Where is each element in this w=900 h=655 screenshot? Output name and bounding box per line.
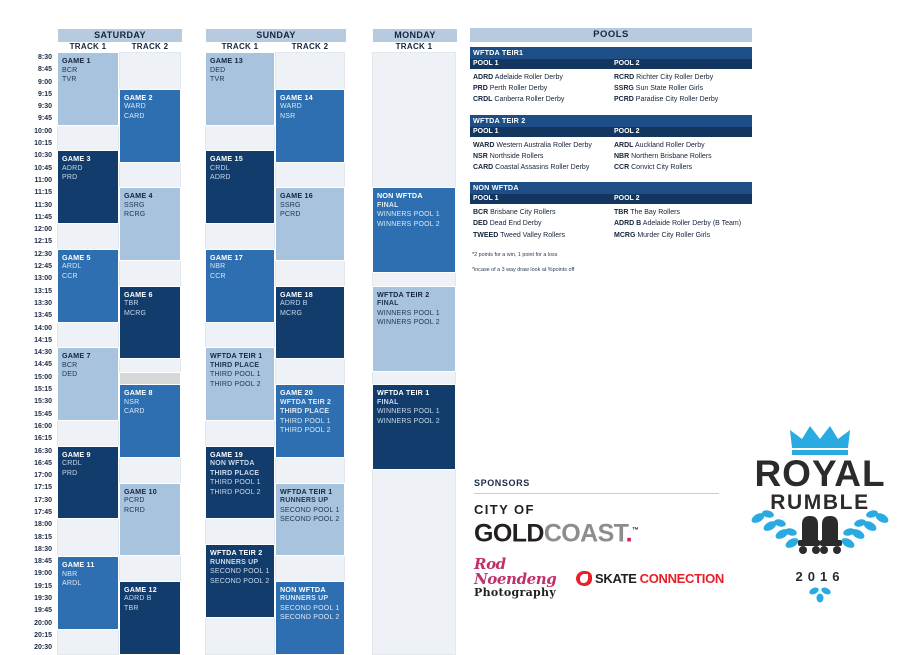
pools-footnotes: *2 points for a win, 1 point for a loss*…: [470, 251, 752, 275]
game-title: NON WFTDA: [377, 191, 451, 201]
game-line: CARD: [124, 112, 176, 122]
game-title: WFTDA TEIR 1: [210, 351, 270, 361]
time-label: 15:00: [25, 372, 55, 384]
game-block[interactable]: GAME 15CRDLADRD: [205, 150, 275, 224]
team-code: PCRD: [614, 96, 634, 103]
time-label: 10:00: [25, 126, 55, 138]
game-line: TBR: [124, 604, 176, 614]
team-name: Perth Roller Derby: [488, 85, 548, 92]
gold-coast-city-of: CITY OF: [474, 503, 724, 517]
game-block[interactable]: GAME 6TBRMCRG: [119, 286, 181, 360]
game-line: THIRD POOL 2: [210, 380, 270, 390]
pool-team-row: PRD Perth Roller Derby: [470, 83, 611, 94]
team-name: Brisbane City Rollers: [488, 209, 555, 216]
game-line: BCR: [62, 66, 114, 76]
game-title: GAME 5: [62, 253, 114, 263]
game-line: NON WFTDA: [210, 459, 270, 469]
team-name: Adelaide Roller Derby: [493, 74, 563, 81]
team-name: Richter City Roller Derby: [634, 74, 713, 81]
skate-connection-skate: SKATE: [595, 571, 637, 586]
game-line: PCRD: [280, 210, 340, 220]
game-title: GAME 12: [124, 585, 176, 595]
roller-skates-icon: [798, 516, 842, 554]
game-line: NBR: [62, 570, 114, 580]
team-code: NBR: [614, 153, 629, 160]
game-line: WINNERS POOL 1: [377, 407, 451, 417]
game-title: GAME 18: [280, 290, 340, 300]
time-label: 12:30: [25, 249, 55, 261]
team-name: Dead End Derby: [488, 220, 542, 227]
wreath-icon: [746, 510, 894, 566]
time-label: 20:00: [25, 618, 55, 630]
game-block[interactable]: GAME 3ADRDPRD: [57, 150, 119, 224]
team-name: Adelaide Roller Derby (B Team): [641, 220, 741, 227]
team-code: TWEED: [473, 232, 498, 239]
royal-rumble-logo: ROYAL RUMBLE: [746, 424, 894, 620]
game-line: ADRD B: [280, 299, 340, 309]
game-title: WFTDA TEIR 2: [210, 548, 270, 558]
game-line: THIRD PLACE: [210, 469, 270, 479]
game-block[interactable]: GAME 11NBRARDL: [57, 556, 119, 630]
time-label: 14:45: [25, 359, 55, 371]
game-block[interactable]: GAME 1BCRTVR: [57, 52, 119, 126]
game-block[interactable]: WFTDA TEIR 1RUNNERS UPSECOND POOL 1SECON…: [275, 483, 345, 557]
skate-connection-icon: [576, 571, 592, 586]
time-label: 15:30: [25, 396, 55, 408]
pool-body: ADRD Adelaide Roller DerbyPRD Perth Roll…: [470, 69, 752, 110]
time-label: 9:30: [25, 101, 55, 113]
team-name: Western Australia Roller Derby: [494, 142, 592, 149]
time-label: 11:30: [25, 200, 55, 212]
game-line: WINNERS POOL 2: [377, 417, 451, 427]
game-line: PRD: [62, 469, 114, 479]
pool-team-row: CRDL Canberra Roller Derby: [470, 94, 611, 105]
game-line: THIRD POOL 1: [210, 478, 270, 488]
game-title: GAME 3: [62, 154, 114, 164]
time-label: 9:00: [25, 77, 55, 89]
pool-team-row: SSRG Sun State Roller Girls: [611, 83, 752, 94]
pool-column: ADRD Adelaide Roller DerbyPRD Perth Roll…: [470, 72, 611, 106]
logo-wreath-skates: [746, 514, 894, 570]
game-line: CCR: [62, 272, 114, 282]
game-title: GAME 4: [124, 191, 176, 201]
sponsors-divider: [474, 493, 719, 494]
game-line: WARD: [124, 102, 176, 112]
team-code: WARD: [473, 142, 494, 149]
team-name: Auckland Roller Derby: [633, 142, 704, 149]
game-title: GAME 9: [62, 450, 114, 460]
game-line: ARDL: [62, 579, 114, 589]
team-code: CARD: [473, 164, 493, 171]
time-label: 18:30: [25, 544, 55, 556]
time-label: 19:30: [25, 593, 55, 605]
time-label: 17:15: [25, 482, 55, 494]
schedule-poster: 8:308:459:009:159:309:4510:0010:1510:301…: [0, 0, 900, 640]
time-label: 19:45: [25, 605, 55, 617]
leaf-flourish-icon: [807, 587, 833, 603]
game-title: NON WFTDA: [280, 585, 340, 595]
pool-header-row: POOL 1POOL 2: [470, 194, 752, 204]
game-block[interactable]: GAME 18ADRD BMCRG: [275, 286, 345, 360]
footnote: *incase of a 3 way draw look at %points …: [470, 266, 752, 275]
game-block[interactable]: GAME 16SSRGPCRD: [275, 187, 345, 261]
skate-connection-connection: CONNECTION: [640, 571, 724, 586]
game-line: SECOND POOL 1: [280, 604, 340, 614]
game-line: NBR: [210, 262, 270, 272]
pool-column: RCRD Richter City Roller DerbySSRG Sun S…: [611, 72, 752, 106]
game-line: THIRD POOL 2: [210, 488, 270, 498]
game-title: GAME 8: [124, 388, 176, 398]
team-code: CCR: [614, 164, 629, 171]
gold-coast-gold: GOLD: [474, 519, 544, 547]
time-column: 8:308:459:009:159:309:4510:0010:1510:301…: [25, 52, 55, 655]
game-line: THIRD POOL 1: [210, 370, 270, 380]
game-block[interactable]: WFTDA TEIR 2FINALWINNERS POOL 1WINNERS P…: [372, 286, 456, 372]
time-label: 10:45: [25, 163, 55, 175]
time-label: 14:00: [25, 323, 55, 335]
game-line: MCRG: [124, 309, 176, 319]
game-block[interactable]: NON WFTDAFINALWINNERS POOL 1WINNERS POOL…: [372, 187, 456, 273]
game-block[interactable]: WFTDA TEIR 1FINALWINNERS POOL 1WINNERS P…: [372, 384, 456, 470]
game-line: ARDL: [62, 262, 114, 272]
game-block[interactable]: GAME 8NSRCARD: [119, 384, 181, 458]
game-line: ADRD: [210, 173, 270, 183]
game-title: WFTDA TEIR 2: [377, 290, 451, 300]
time-label: 12:00: [25, 224, 55, 236]
game-block[interactable]: NON WFTDARUNNERS UPSECOND POOL 1SECOND P…: [275, 581, 345, 655]
game-line: FINAL: [377, 299, 451, 309]
game-line: WINNERS POOL 1: [377, 210, 451, 220]
team-name: Murder City Roller Girls: [635, 232, 710, 239]
team-code: TBR: [614, 209, 628, 216]
time-label: 16:15: [25, 433, 55, 445]
game-line: MCRG: [280, 309, 340, 319]
pool-header-row: POOL 1POOL 2: [470, 59, 752, 69]
pools-title: POOLS: [470, 28, 752, 42]
time-label: 18:15: [25, 532, 55, 544]
time-label: 16:45: [25, 458, 55, 470]
game-block[interactable]: GAME 20WFTDA TEIR 2THIRD PLACETHIRD POOL…: [275, 384, 345, 458]
rod-photography-label: Photography: [474, 587, 568, 599]
pool-team-row: NSR Northside Rollers: [470, 151, 611, 162]
gold-coast-trademark: ™: [632, 527, 638, 534]
pool-team-row: CARD Coastal Assasins Roller Derby: [470, 162, 611, 173]
pool-column: WARD Western Australia Roller DerbyNSR N…: [470, 140, 611, 174]
pool-group: WFTDA TEIR 2POOL 1POOL 2WARD Western Aus…: [470, 115, 752, 178]
gold-coast-wordmark: GOLDCOAST.™: [474, 517, 724, 547]
game-line: WINNERS POOL 2: [377, 318, 451, 328]
pool-team-row: ADRD Adelaide Roller Derby: [470, 72, 611, 83]
team-name: Sun State Roller Girls: [634, 85, 703, 92]
game-title: GAME 16: [280, 191, 340, 201]
game-line: THIRD POOL 1: [280, 417, 340, 427]
sponsor-logo-skate-connection: SKATECONNECTION: [576, 571, 724, 586]
rod-script-name: Rod Noendeng: [474, 557, 568, 587]
game-block[interactable]: GAME 13DEDTVR: [205, 52, 275, 126]
team-code: SSRG: [614, 85, 634, 92]
time-label: 8:30: [25, 52, 55, 64]
pool-column-header: POOL 2: [611, 194, 752, 204]
crown-icon: [788, 424, 852, 456]
time-label: 11:15: [25, 187, 55, 199]
pool-team-row: WARD Western Australia Roller Derby: [470, 140, 611, 151]
team-code: CRDL: [473, 96, 492, 103]
game-line: CRDL: [210, 164, 270, 174]
time-label: 13:15: [25, 286, 55, 298]
game-title: GAME 10: [124, 487, 176, 497]
pool-column: TBR The Bay RollersADRD B Adelaide Rolle…: [611, 207, 752, 241]
pool-team-row: NBR Northern Brisbane Rollers: [611, 151, 752, 162]
time-label: 13:45: [25, 310, 55, 322]
game-line: CCR: [210, 272, 270, 282]
game-line: TVR: [62, 75, 114, 85]
pool-team-row: ADRD B Adelaide Roller Derby (B Team): [611, 218, 752, 229]
game-title: GAME 6: [124, 290, 176, 300]
game-title: GAME 20: [280, 388, 340, 398]
game-line: RCRG: [124, 210, 176, 220]
team-code: ARDL: [614, 142, 633, 149]
game-block[interactable]: GAME 9CRDLPRD: [57, 446, 119, 520]
pool-groups: WFTDA TEIR1POOL 1POOL 2ADRD Adelaide Rol…: [470, 47, 752, 245]
game-title: GAME 13: [210, 56, 270, 66]
time-label: 11:45: [25, 212, 55, 224]
team-name: Paradise City Roller Derby: [634, 96, 718, 103]
team-name: Northside Rollers: [488, 153, 544, 160]
team-name: The Bay Rollers: [628, 209, 680, 216]
team-code: NSR: [473, 153, 488, 160]
game-line: FINAL: [377, 201, 451, 211]
pool-column-header: POOL 1: [470, 59, 611, 69]
game-title: GAME 2: [124, 93, 176, 103]
pool-column: ARDL Auckland Roller DerbyNBR Northern B…: [611, 140, 752, 174]
time-label: 12:45: [25, 261, 55, 273]
pool-group-name: WFTDA TEIR1: [470, 47, 752, 59]
time-label: 18:00: [25, 519, 55, 531]
team-code: MCRG: [614, 232, 635, 239]
pool-column: BCR Brisbane City RollersDED Dead End De…: [470, 207, 611, 241]
game-line: PRD: [62, 173, 114, 183]
game-title: WFTDA TEIR 1: [280, 487, 340, 497]
time-label: 17:45: [25, 507, 55, 519]
pool-team-row: PCRD Paradise City Roller Derby: [611, 94, 752, 105]
time-label: 10:30: [25, 150, 55, 162]
game-line: RUNNERS UP: [280, 594, 340, 604]
game-title: GAME 11: [62, 560, 114, 570]
team-name: Northern Brisbane Rollers: [629, 153, 711, 160]
game-block[interactable]: WFTDA TEIR 2RUNNERS UPSECOND POOL 1SECON…: [205, 544, 275, 618]
game-line: BCR: [62, 361, 114, 371]
game-title: GAME 15: [210, 154, 270, 164]
footnote: *2 points for a win, 1 point for a loss: [470, 251, 752, 260]
game-line: THIRD POOL 2: [280, 426, 340, 436]
game-line: TBR: [124, 299, 176, 309]
game-line: CRDL: [62, 459, 114, 469]
logo-royal-text: ROYAL: [746, 456, 894, 492]
time-label: 20:15: [25, 630, 55, 642]
game-line: SECOND POOL 2: [210, 577, 270, 587]
team-name: Convict City Rollers: [629, 164, 692, 171]
sponsor-logo-gold-coast: CITY OF GOLDCOAST.™: [474, 503, 724, 547]
pool-group: NON WFTDAPOOL 1POOL 2BCR Brisbane City R…: [470, 182, 752, 245]
sponsors-label: SPONSORS: [474, 478, 724, 488]
game-line: RUNNERS UP: [280, 496, 340, 506]
gold-coast-coast: COAST: [544, 519, 626, 547]
pool-team-row: RCRD Richter City Roller Derby: [611, 72, 752, 83]
pool-team-row: CCR Convict City Rollers: [611, 162, 752, 173]
game-line: THIRD PLACE: [210, 361, 270, 371]
pool-column-header: POOL 2: [611, 59, 752, 69]
pool-group: WFTDA TEIR1POOL 1POOL 2ADRD Adelaide Rol…: [470, 47, 752, 110]
game-title: GAME 19: [210, 450, 270, 460]
time-label: 20:30: [25, 642, 55, 654]
game-line: WFTDA TEIR 2: [280, 398, 340, 408]
time-label: 15:15: [25, 384, 55, 396]
time-label: 15:45: [25, 409, 55, 421]
time-label: 16:30: [25, 446, 55, 458]
team-code: RCRD: [614, 74, 634, 81]
time-label: 14:15: [25, 335, 55, 347]
pool-body: BCR Brisbane City RollersDED Dead End De…: [470, 204, 752, 245]
team-code: DED: [473, 220, 488, 227]
game-line: SECOND POOL 1: [280, 506, 340, 516]
game-line: SECOND POOL 2: [280, 515, 340, 525]
game-block[interactable]: GAME 10PCRDRCRD: [119, 483, 181, 557]
game-block[interactable]: GAME 14WARDNSR: [275, 89, 345, 163]
game-line: WARD: [280, 102, 340, 112]
pool-team-row: MCRG Murder City Roller Girls: [611, 230, 752, 241]
game-line: WINNERS POOL 1: [377, 309, 451, 319]
pool-team-row: DED Dead End Derby: [470, 218, 611, 229]
team-code: ADRD B: [614, 220, 641, 227]
game-block[interactable]: GAME 12ADRD BTBR: [119, 581, 181, 655]
game-line: WINNERS POOL 2: [377, 220, 451, 230]
game-line: TVR: [210, 75, 270, 85]
game-line: NSR: [280, 112, 340, 122]
time-label: 8:45: [25, 64, 55, 76]
pool-header-row: POOL 1POOL 2: [470, 127, 752, 137]
game-block[interactable]: GAME 17NBRCCR: [205, 249, 275, 323]
game-line: DED: [62, 370, 114, 380]
logo-year-text: 2016: [746, 570, 894, 584]
game-block[interactable]: GAME 19NON WFTDATHIRD PLACETHIRD POOL 1T…: [205, 446, 275, 520]
team-name: Canberra Roller Derby: [492, 96, 564, 103]
time-label: 19:00: [25, 568, 55, 580]
game-line: THIRD PLACE: [280, 407, 340, 417]
time-label: 14:30: [25, 347, 55, 359]
time-label: 13:30: [25, 298, 55, 310]
game-line: SECOND POOL 2: [280, 613, 340, 623]
game-line: SSRG: [280, 201, 340, 211]
pool-team-row: TBR The Bay Rollers: [611, 207, 752, 218]
pool-column-header: POOL 1: [470, 194, 611, 204]
game-line: RCRD: [124, 506, 176, 516]
time-label: 19:15: [25, 581, 55, 593]
game-line: RUNNERS UP: [210, 558, 270, 568]
team-name: Tweed Valley Rollers: [498, 232, 565, 239]
team-code: PRD: [473, 85, 488, 92]
pool-column-header: POOL 1: [470, 127, 611, 137]
time-label: 9:45: [25, 113, 55, 125]
time-label: 9:15: [25, 89, 55, 101]
team-code: ADRD: [473, 74, 493, 81]
pool-body: WARD Western Australia Roller DerbyNSR N…: [470, 137, 752, 178]
game-block[interactable]: GAME 4SSRGRCRG: [119, 187, 181, 261]
game-title: GAME 7: [62, 351, 114, 361]
pool-group-name: NON WFTDA: [470, 182, 752, 194]
game-block[interactable]: GAME 5ARDLCCR: [57, 249, 119, 323]
game-line: CARD: [124, 407, 176, 417]
sponsor-logos-row: Rod Noendeng Photography SKATECONNECTION: [474, 557, 724, 599]
pool-column-header: POOL 2: [611, 127, 752, 137]
sponsors-section: SPONSORS CITY OF GOLDCOAST.™ Rod Noenden…: [474, 478, 724, 599]
time-label: 18:45: [25, 556, 55, 568]
game-line: ADRD: [62, 164, 114, 174]
game-line: FINAL: [377, 398, 451, 408]
game-line: ADRD B: [124, 594, 176, 604]
time-label: 13:00: [25, 273, 55, 285]
game-title: GAME 17: [210, 253, 270, 263]
time-label: 11:00: [25, 175, 55, 187]
time-label: 17:30: [25, 495, 55, 507]
game-line: SECOND POOL 1: [210, 567, 270, 577]
pool-team-row: BCR Brisbane City Rollers: [470, 207, 611, 218]
game-title: WFTDA TEIR 1: [377, 388, 451, 398]
game-line: DED: [210, 66, 270, 76]
time-label: 17:00: [25, 470, 55, 482]
time-label: 16:00: [25, 421, 55, 433]
game-line: SSRG: [124, 201, 176, 211]
pool-group-name: WFTDA TEIR 2: [470, 115, 752, 127]
pool-team-row: ARDL Auckland Roller Derby: [611, 140, 752, 151]
pools-panel: POOLS WFTDA TEIR1POOL 1POOL 2ADRD Adelai…: [470, 28, 752, 275]
game-line: NSR: [124, 398, 176, 408]
team-code: BCR: [473, 209, 488, 216]
sponsor-logo-rod-photography: Rod Noendeng Photography: [474, 557, 568, 599]
time-label: 12:15: [25, 236, 55, 248]
pool-team-row: TWEED Tweed Valley Rollers: [470, 230, 611, 241]
team-name: Coastal Assasins Roller Derby: [493, 164, 589, 171]
game-block[interactable]: GAME 7BCRDED: [57, 347, 119, 421]
game-title: GAME 1: [62, 56, 114, 66]
game-block[interactable]: WFTDA TEIR 1THIRD PLACETHIRD POOL 1THIRD…: [205, 347, 275, 421]
time-label: 10:15: [25, 138, 55, 150]
game-title: GAME 14: [280, 93, 340, 103]
game-line: PCRD: [124, 496, 176, 506]
game-block[interactable]: GAME 2WARDCARD: [119, 89, 181, 163]
